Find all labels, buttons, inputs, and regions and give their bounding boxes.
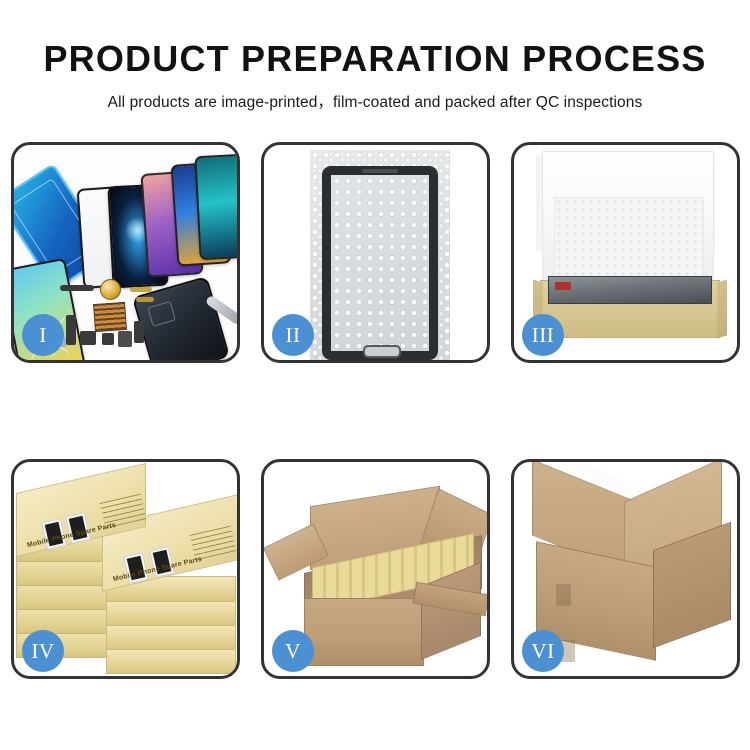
- page-title: PRODUCT PREPARATION PROCESS: [0, 0, 750, 80]
- flex-cable-part-3: [134, 321, 144, 343]
- camera-module-part: [80, 331, 96, 345]
- stacked-box-right-3: [106, 600, 236, 626]
- stacked-box-right-5: [106, 648, 236, 674]
- speaker-part-icon: [100, 279, 121, 300]
- process-step-panel-5[interactable]: V: [261, 459, 490, 679]
- wrapped-phone-screen-image: [322, 166, 438, 360]
- chip-board-part-image: [93, 302, 127, 332]
- process-step-panel-4[interactable]: Mobile Phone Spare Parts Mobile Phone Sp…: [11, 459, 240, 679]
- step-badge-5: V: [272, 630, 314, 672]
- step-badge-2: II: [272, 314, 314, 356]
- flex-cable-part-1: [60, 285, 94, 291]
- process-step-panel-3[interactable]: III: [511, 142, 740, 363]
- button-part-2: [136, 297, 154, 302]
- page-header: PRODUCT PREPARATION PROCESS All products…: [0, 0, 750, 112]
- step-badge-4: IV: [22, 630, 64, 672]
- carton-hand-hole-upper: [556, 584, 571, 606]
- flex-cable-part-2: [66, 315, 76, 345]
- phone-display-teal-image: [194, 154, 237, 260]
- button-part-1: [130, 287, 152, 292]
- speaker-module-part: [118, 331, 132, 347]
- lcd-screen-in-box-image: [548, 276, 712, 304]
- process-step-panel-6[interactable]: VI: [511, 459, 740, 679]
- step-badge-1: I: [22, 314, 64, 356]
- vibrator-part: [102, 333, 114, 345]
- process-step-panel-1[interactable]: I: [11, 142, 240, 363]
- foam-padding-image: [554, 197, 704, 279]
- page-subtitle: All products are image-printed，film-coat…: [0, 80, 750, 112]
- process-steps-grid: I II III: [11, 142, 739, 680]
- step-badge-3: III: [522, 314, 564, 356]
- stacked-box-right-4: [106, 624, 236, 650]
- carton-front-face-image: [304, 598, 424, 666]
- step-badge-6: VI: [522, 630, 564, 672]
- process-step-panel-2[interactable]: II: [261, 142, 490, 363]
- bubble-wrap-sheet-image: [310, 150, 450, 360]
